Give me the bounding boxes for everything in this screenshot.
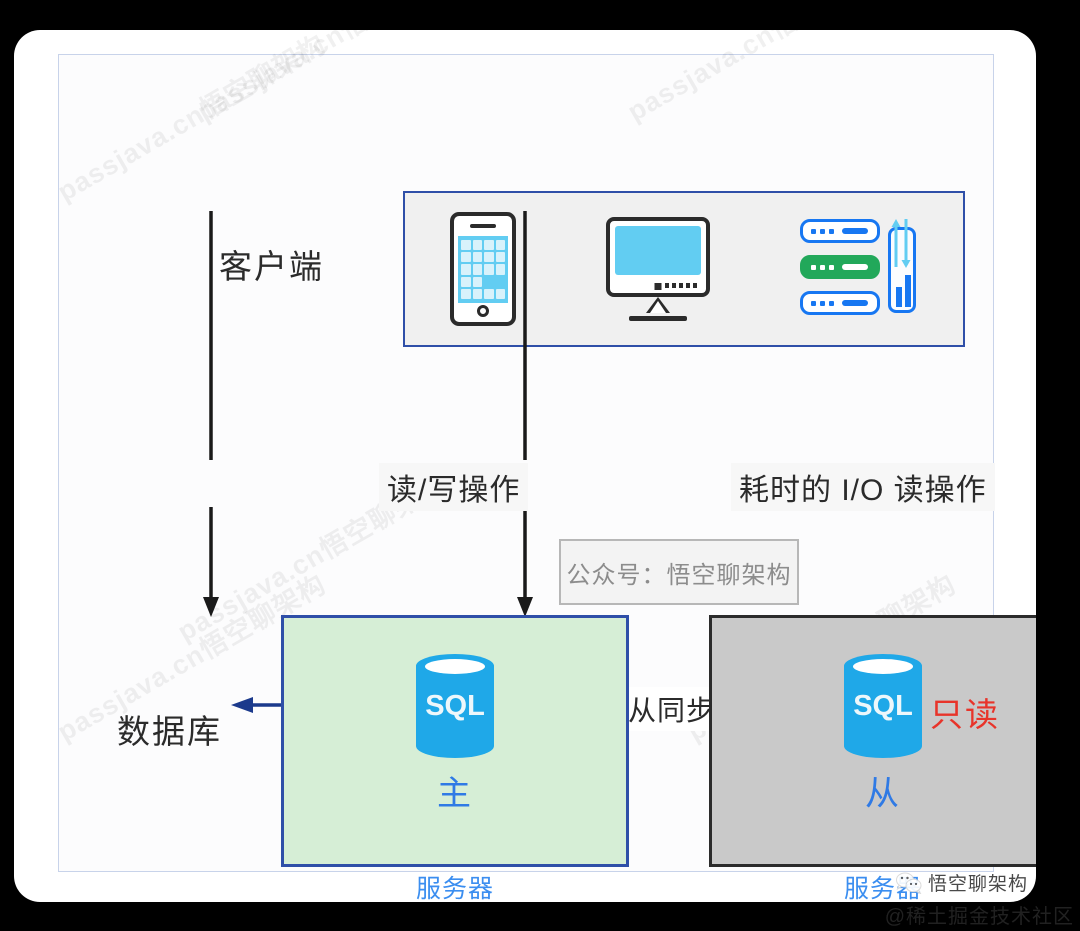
background-watermark: passjava.cn悟空聊架构 — [619, 30, 902, 129]
corner-watermark: @稀土掘金技术社区 — [885, 900, 1074, 929]
row-label-client: 客户端 — [219, 240, 324, 288]
wechat-account-name: 悟空聊架构 — [928, 869, 1028, 896]
row-label-database: 数据库 — [117, 705, 222, 753]
server-caption-text: 服务器 — [416, 875, 494, 902]
phone-home-button — [477, 305, 489, 317]
cylinder-lid — [853, 659, 913, 674]
edge-label-io-read: 耗时的 I/O 读操作 — [731, 463, 995, 511]
client-tier-box[interactable] — [403, 191, 965, 347]
edge-label-read-write: 读/写操作 — [379, 463, 528, 511]
database-role-label-slave: 从 — [865, 766, 901, 815]
server-chart-icon — [896, 275, 911, 307]
monitor-dots — [665, 283, 697, 288]
desktop-monitor-icon — [606, 217, 710, 321]
sql-database-icon: SQL — [416, 654, 494, 758]
server-caption-master: 服务器 192.168.56.11 — [281, 873, 629, 902]
mobile-phone-icon — [450, 212, 516, 326]
phone-speaker — [470, 224, 496, 228]
wechat-logo-icon — [896, 872, 922, 894]
monitor-body — [606, 217, 710, 297]
server-unit-middle-active — [800, 255, 880, 279]
sql-label: SQL — [416, 690, 494, 723]
database-box-master[interactable]: SQL 主 — [281, 615, 629, 867]
server-rack-icon — [800, 217, 918, 321]
server-unit-top — [800, 219, 880, 243]
phone-screen — [458, 236, 508, 303]
monitor-screen — [615, 226, 701, 275]
server-unit-bottom — [800, 291, 880, 315]
database-role-label-master: 主 — [437, 766, 473, 815]
monitor-stand-base — [629, 316, 687, 321]
server-sync-arrows-icon — [890, 217, 912, 269]
wechat-account-badge: 悟空聊架构 — [896, 869, 1028, 896]
public-account-note-box: 公众号：悟空聊架构 — [559, 539, 799, 605]
screenshot-root: passjava.cn悟空聊架构 passjava.cn悟空聊架构 passja… — [0, 0, 1080, 931]
diagram-card: passjava.cn悟空聊架构 passjava.cn悟空聊架构 passja… — [14, 30, 1036, 902]
database-box-slave[interactable]: SQL 从 只读 — [709, 615, 1036, 867]
background-watermark: passjava.cn悟空聊架构 — [189, 30, 472, 129]
cylinder-lid — [425, 659, 485, 674]
diagram-canvas: passjava.cn悟空聊架构 passjava.cn悟空聊架构 passja… — [58, 54, 994, 872]
sql-label: SQL — [844, 690, 922, 723]
background-watermark: passjava.cn悟空聊架构 — [49, 30, 332, 209]
monitor-power-dot — [655, 283, 662, 290]
readonly-badge: 只读 — [930, 688, 1000, 736]
monitor-stand-neck — [646, 297, 670, 313]
sql-database-icon: SQL — [844, 654, 922, 758]
